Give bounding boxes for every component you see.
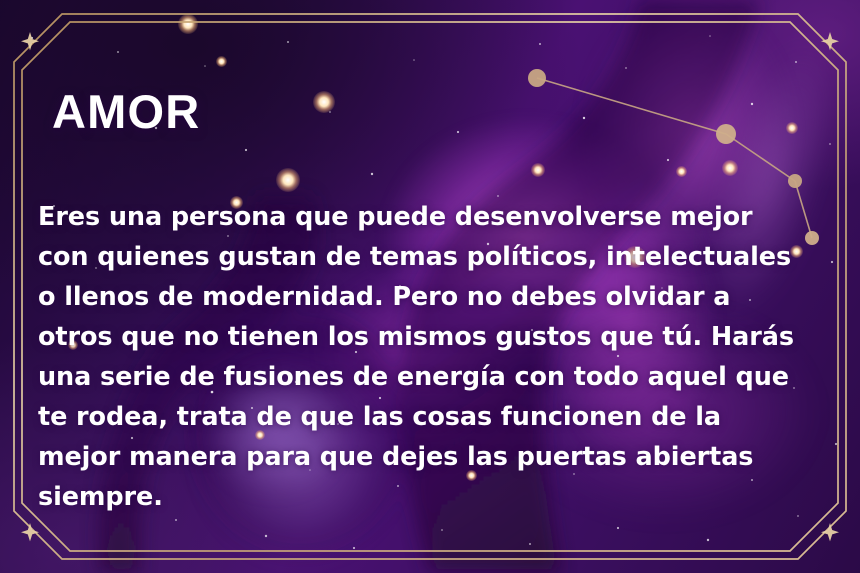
horoscope-body-text: Eres una persona que puede desenvolverse… bbox=[38, 197, 798, 517]
constellation-node bbox=[528, 69, 546, 87]
page-title: AMOR bbox=[52, 88, 828, 135]
horoscope-amor-card: AMOR Eres una persona que puede desenvol… bbox=[0, 0, 860, 573]
text-content: AMOR Eres una persona que puede desenvol… bbox=[38, 88, 828, 517]
